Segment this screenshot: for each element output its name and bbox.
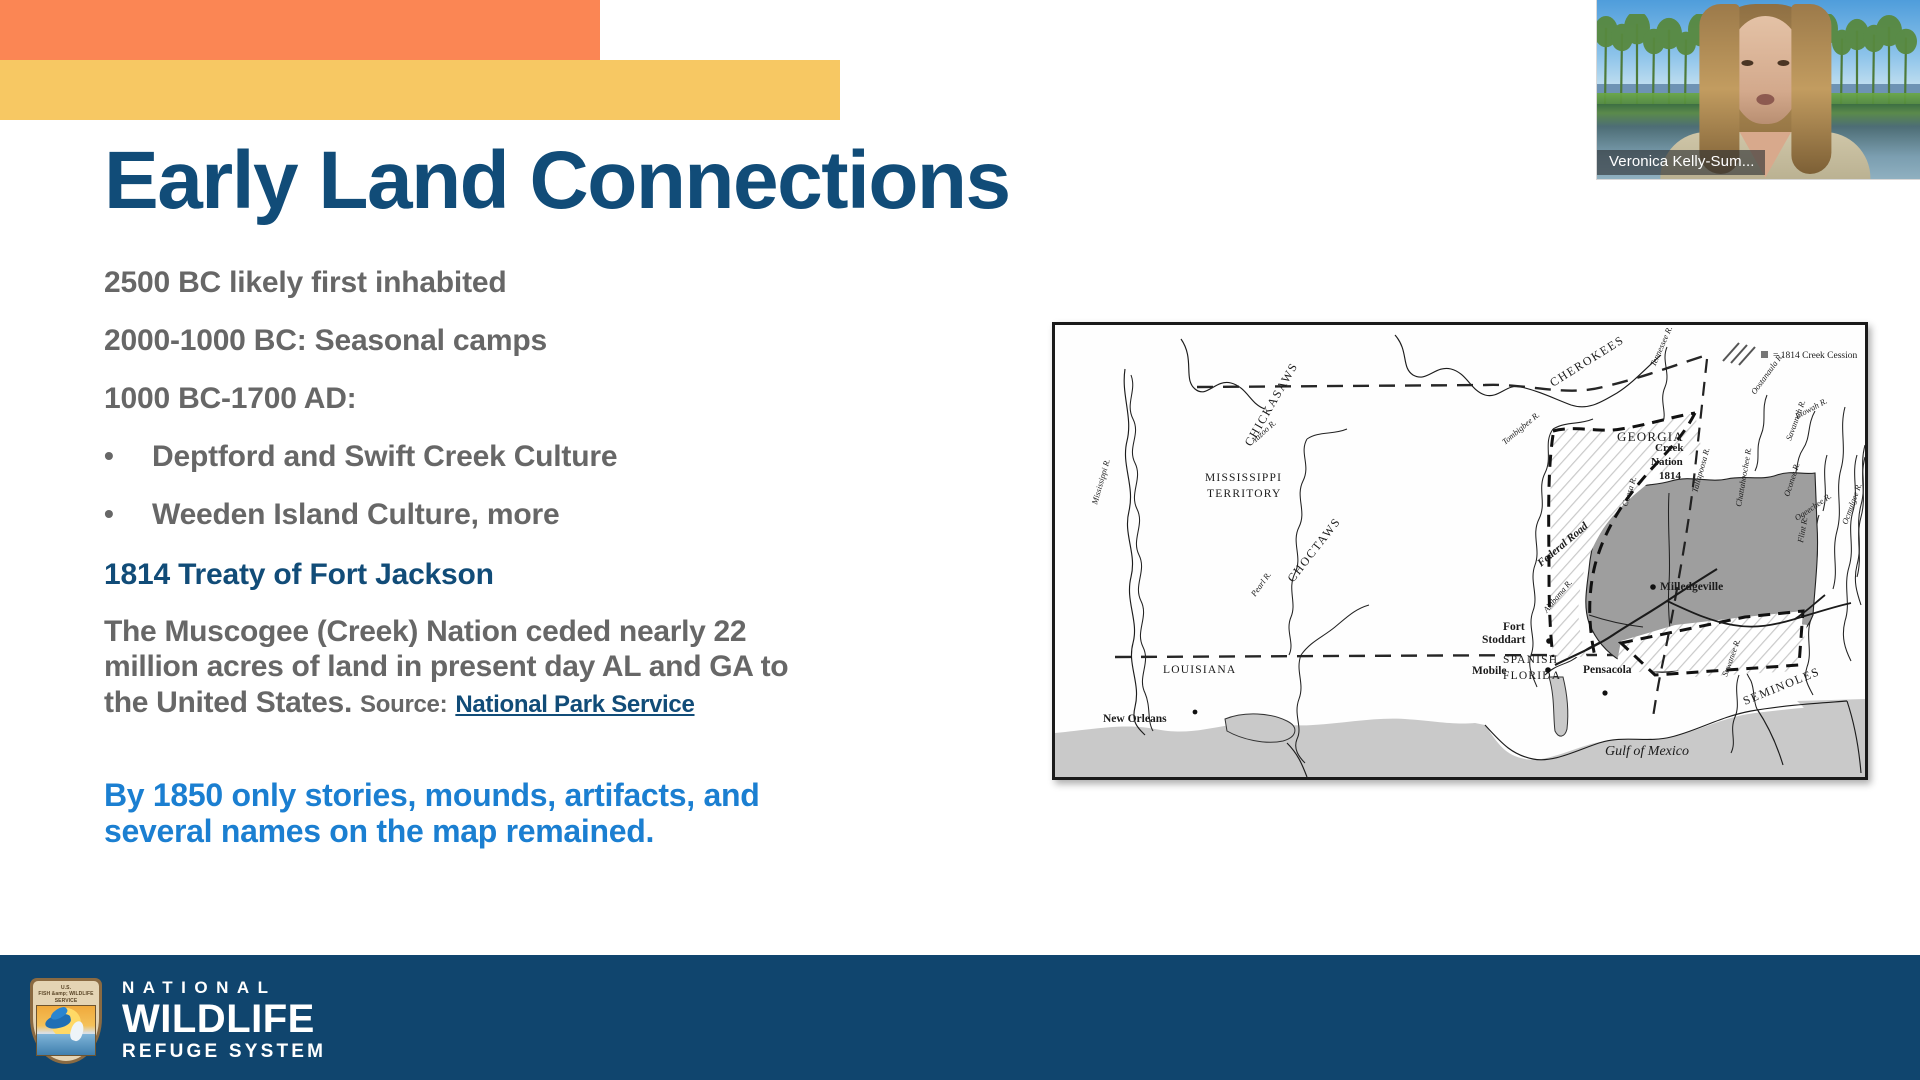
seal-water — [37, 1034, 95, 1055]
source-link-national-park-service[interactable]: National Park Service — [455, 691, 694, 718]
map-creek-nation-line3: 1814 — [1659, 470, 1682, 482]
map-creek-nation-line1: Creek — [1655, 442, 1684, 454]
slide-body-content: 2500 BC likely first inhabited 2000-1000… — [104, 268, 934, 850]
bullet-marker-icon: • — [104, 442, 152, 472]
participant-hair-left — [1699, 4, 1739, 174]
logo-line-national: NATIONAL — [122, 979, 326, 998]
list-item: • Weeden Island Culture, more — [104, 500, 934, 530]
map-region-louisiana: LOUISIANA — [1163, 664, 1236, 676]
bullet-marker-icon: • — [104, 500, 152, 530]
map-region-mississippi-line1: MISSISSIPPI — [1205, 472, 1282, 484]
culture-bullet-list: • Deptford and Swift Creek Culture • Wee… — [104, 442, 934, 530]
participant-hair-right — [1791, 4, 1831, 174]
nwrs-logo: U.S. FISH &amp; WILDLIFE SERVICE NATIONA… — [30, 978, 326, 1064]
seal-text: U.S. FISH &amp; WILDLIFE SERVICE — [30, 985, 102, 1004]
map-fort-stoddart-line2: Stoddart — [1482, 634, 1526, 646]
map-city-pensacola: Pensacola — [1583, 664, 1632, 676]
map-city-mobile: Mobile — [1472, 665, 1507, 677]
seal-text-line3: SERVICE — [30, 998, 102, 1004]
slide-title: Early Land Connections — [104, 140, 1010, 222]
header-accent-bar-orange — [0, 0, 600, 60]
list-item-label: Deptford and Swift Creek Culture — [152, 442, 617, 472]
participant-eye-right — [1777, 60, 1789, 66]
fact-line-2: 2000-1000 BC: Seasonal camps — [104, 326, 934, 356]
participant-name-label: Veronica Kelly-Sum... — [1597, 150, 1765, 175]
treaty-paragraph: The Muscogee (Creek) Nation ceded nearly… — [104, 614, 804, 720]
fws-seal-icon: U.S. FISH &amp; WILDLIFE SERVICE — [30, 978, 102, 1064]
seal-scene — [36, 1005, 96, 1056]
logo-line-wildlife: WILDLIFE — [122, 999, 326, 1040]
closing-statement: By 1850 only stories, mounds, artifacts,… — [104, 778, 844, 850]
source-label: Source: — [360, 691, 447, 718]
map-water-gulf-of-mexico: Gulf of Mexico — [1605, 744, 1689, 759]
seal-text-line2: FISH &amp; WILDLIFE — [30, 991, 102, 997]
treaty-subheading: 1814 Treaty of Fort Jackson — [104, 560, 934, 590]
map-legend-label: = 1814 Creek Cession — [1773, 351, 1858, 361]
map-fort-stoddart-line1: Fort — [1503, 621, 1525, 633]
list-item: • Deptford and Swift Creek Culture — [104, 442, 934, 472]
map-region-spanish-florida-line1: SPANISH — [1503, 654, 1558, 666]
map-city-milledgeville: Milledgeville — [1660, 581, 1723, 593]
list-item-label: Weeden Island Culture, more — [152, 500, 559, 530]
participant-mouth — [1756, 94, 1774, 105]
fact-line-1: 2500 BC likely first inhabited — [104, 268, 934, 298]
map-city-new-orleans: New Orleans — [1103, 713, 1167, 725]
map-region-spanish-florida-line2: FLORIDA — [1503, 670, 1561, 682]
participant-eye-left — [1741, 60, 1753, 66]
fact-line-3: 1000 BC-1700 AD: — [104, 384, 934, 414]
nwrs-logo-text: NATIONAL WILDLIFE REFUGE SYSTEM — [122, 979, 326, 1062]
header-accent-bar-yellow — [0, 60, 840, 120]
map-creek-nation-line2: Nation — [1651, 456, 1683, 468]
logo-line-refuge-system: REFUGE SYSTEM — [122, 1042, 326, 1063]
map-region-mississippi-line2: TERRITORY — [1207, 488, 1281, 500]
participant-video-tile[interactable]: Veronica Kelly-Sum... — [1596, 0, 1920, 180]
historical-map-1814-creek-cession: = 1814 Creek Cession MISSISSIPPI TERRITO… — [1052, 322, 1868, 780]
